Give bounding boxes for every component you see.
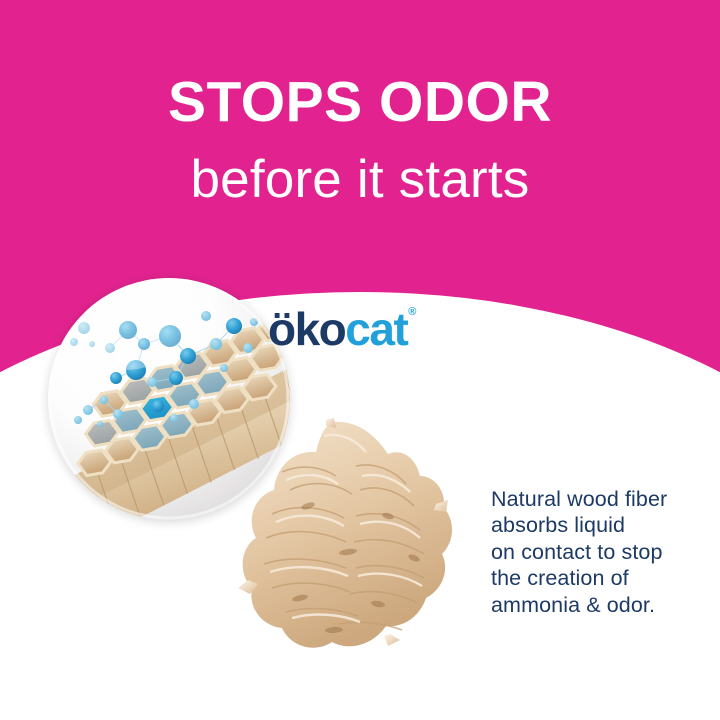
registered-trademark-icon: ® (408, 306, 416, 318)
logo-text-oko: öko (268, 303, 345, 355)
okocat-logo: ökocat® (268, 306, 415, 352)
headline-block: STOPS ODOR before it starts (0, 0, 720, 206)
headline-secondary: before it starts (0, 131, 720, 206)
headline-primary: STOPS ODOR (0, 0, 720, 131)
feature-description: Natural wood fiber absorbs liquid on con… (491, 486, 667, 618)
product-feature-panel: STOPS ODOR before it starts (0, 0, 720, 720)
logo-text-cat: cat (345, 303, 407, 355)
wood-fiber-clump (238, 418, 466, 676)
